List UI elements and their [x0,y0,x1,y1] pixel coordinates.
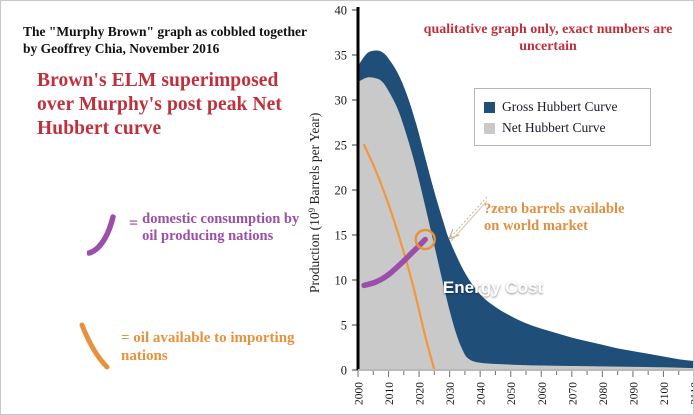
label-energy-cost: Energy Cost [441,278,545,298]
y-tick-label: 30 [335,94,348,108]
legend-swatch-net [484,123,495,134]
header-note: The "Murphy Brown" graph as cobbled toge… [23,23,313,58]
legend-label-net: Net Hubbert Curve [502,120,605,136]
y-tick-label: 20 [335,184,348,198]
legend-item-gross: Gross Hubbert Curve [484,99,641,115]
x-tick-label: 2050 [506,382,518,405]
x-tick-label: 2030 [445,382,457,405]
chart-legend: Gross Hubbert Curve Net Hubbert Curve [474,88,651,146]
purple-curve-icon [87,211,127,257]
note-zero-barrels: ?zero barrels available on world market [484,201,634,236]
y-axis-label: Production (109 Barrels per Year) [307,113,322,293]
y-tick-label: 5 [341,319,347,333]
x-tick-label: 2070 [567,382,579,405]
legend-swatch-gross [484,102,495,113]
key-domestic-label: domestic consumption by oil producing na… [142,211,312,246]
y-tick-label: 25 [335,139,348,153]
page-title: Brown's ELM superimposed over Murphy's p… [37,69,287,140]
chart-page: The "Murphy Brown" graph as cobbled toge… [0,0,694,415]
key-importing-label: = oil available to importing nations [121,319,314,365]
orange-curve-icon [79,319,121,371]
y-tick-label: 10 [335,274,348,288]
y-axis-ticks: 0510152025303540 [335,4,359,378]
x-tick-label: 2000 [354,382,366,405]
annotation-leader-line [449,197,487,241]
y-tick-label: 40 [335,4,348,18]
y-tick-label: 35 [335,49,348,63]
legend-label-gross: Gross Hubbert Curve [502,99,617,115]
x-tick-label: 2020 [415,382,427,405]
x-tick-label: 2060 [537,382,549,405]
note-qualitative: qualitative graph only, exact numbers ar… [413,21,683,55]
x-tick-label: 2100 [659,382,671,405]
x-tick-label: 2040 [476,382,488,405]
x-tick-label: 2080 [598,382,610,405]
x-axis-ticks: 2000201020202030204020502060207020802090… [354,370,694,405]
key-domestic-consumption: = domestic consumption by oil producing … [87,211,312,257]
x-tick-label: 2090 [628,382,640,405]
key-domestic-equals: = [127,211,142,233]
key-importing-nations: = oil available to importing nations [79,319,314,371]
x-tick-label: 2110 [690,382,694,405]
y-tick-label: 0 [341,364,347,378]
y-tick-label: 15 [335,229,348,243]
x-tick-label: 2010 [384,382,396,405]
legend-item-net: Net Hubbert Curve [484,120,641,136]
